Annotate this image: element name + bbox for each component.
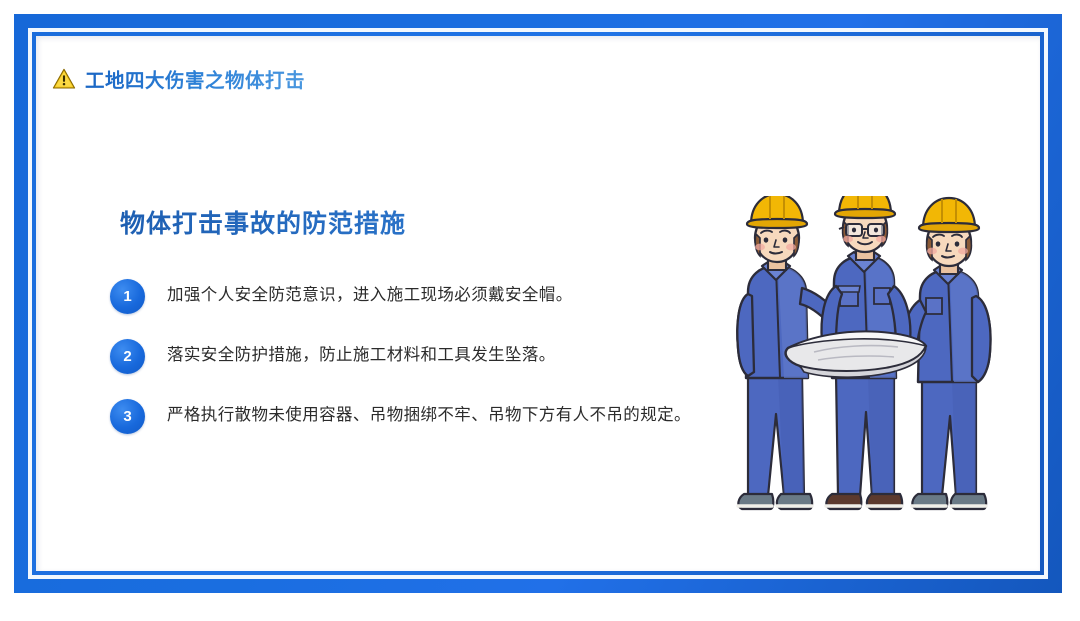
page-title: 工地四大伤害之物体打击: [85, 64, 305, 93]
section-title: 物体打击事故的防范措施: [120, 204, 730, 240]
list-item-number-badge: 1: [110, 279, 145, 314]
list-item-text: 加强个人安全防范意识，进入施工现场必须戴安全帽。: [167, 284, 573, 307]
slide-root: 工地四大伤害之物体打击 物体打击事故的防范措施 1 加强个人安全防范意识，进入施…: [0, 0, 1080, 621]
slide-canvas: 工地四大伤害之物体打击 物体打击事故的防范措施 1 加强个人安全防范意识，进入施…: [36, 36, 1040, 571]
warning-triangle-icon: [52, 67, 76, 91]
text-column: 物体打击事故的防范措施 1 加强个人安全防范意识，进入施工现场必须戴安全帽。 2…: [110, 204, 730, 446]
list-item: 1 加强个人安全防范意识，进入施工现场必须戴安全帽。: [110, 266, 730, 326]
list-item-text: 严格执行散物未使用容器、吊物捆绑不牢、吊物下方有人不吊的规定。: [167, 404, 691, 427]
three-construction-workers-reviewing-blueprint-icon: [726, 196, 1006, 536]
list-item-number-badge: 2: [110, 339, 145, 374]
measures-list: 1 加强个人安全防范意识，进入施工现场必须戴安全帽。 2 落实安全防护措施，防止…: [110, 266, 730, 446]
list-item: 2 落实安全防护措施，防止施工材料和工具发生坠落。: [110, 326, 730, 386]
list-item: 3 严格执行散物未使用容器、吊物捆绑不牢、吊物下方有人不吊的规定。: [110, 386, 730, 446]
list-item-text: 落实安全防护措施，防止施工材料和工具发生坠落。: [167, 344, 556, 367]
workers-illustration: [726, 196, 1006, 536]
header: 工地四大伤害之物体打击: [52, 64, 305, 93]
list-item-number-badge: 3: [110, 399, 145, 434]
main-content: 物体打击事故的防范措施 1 加强个人安全防范意识，进入施工现场必须戴安全帽。 2…: [36, 176, 1040, 571]
